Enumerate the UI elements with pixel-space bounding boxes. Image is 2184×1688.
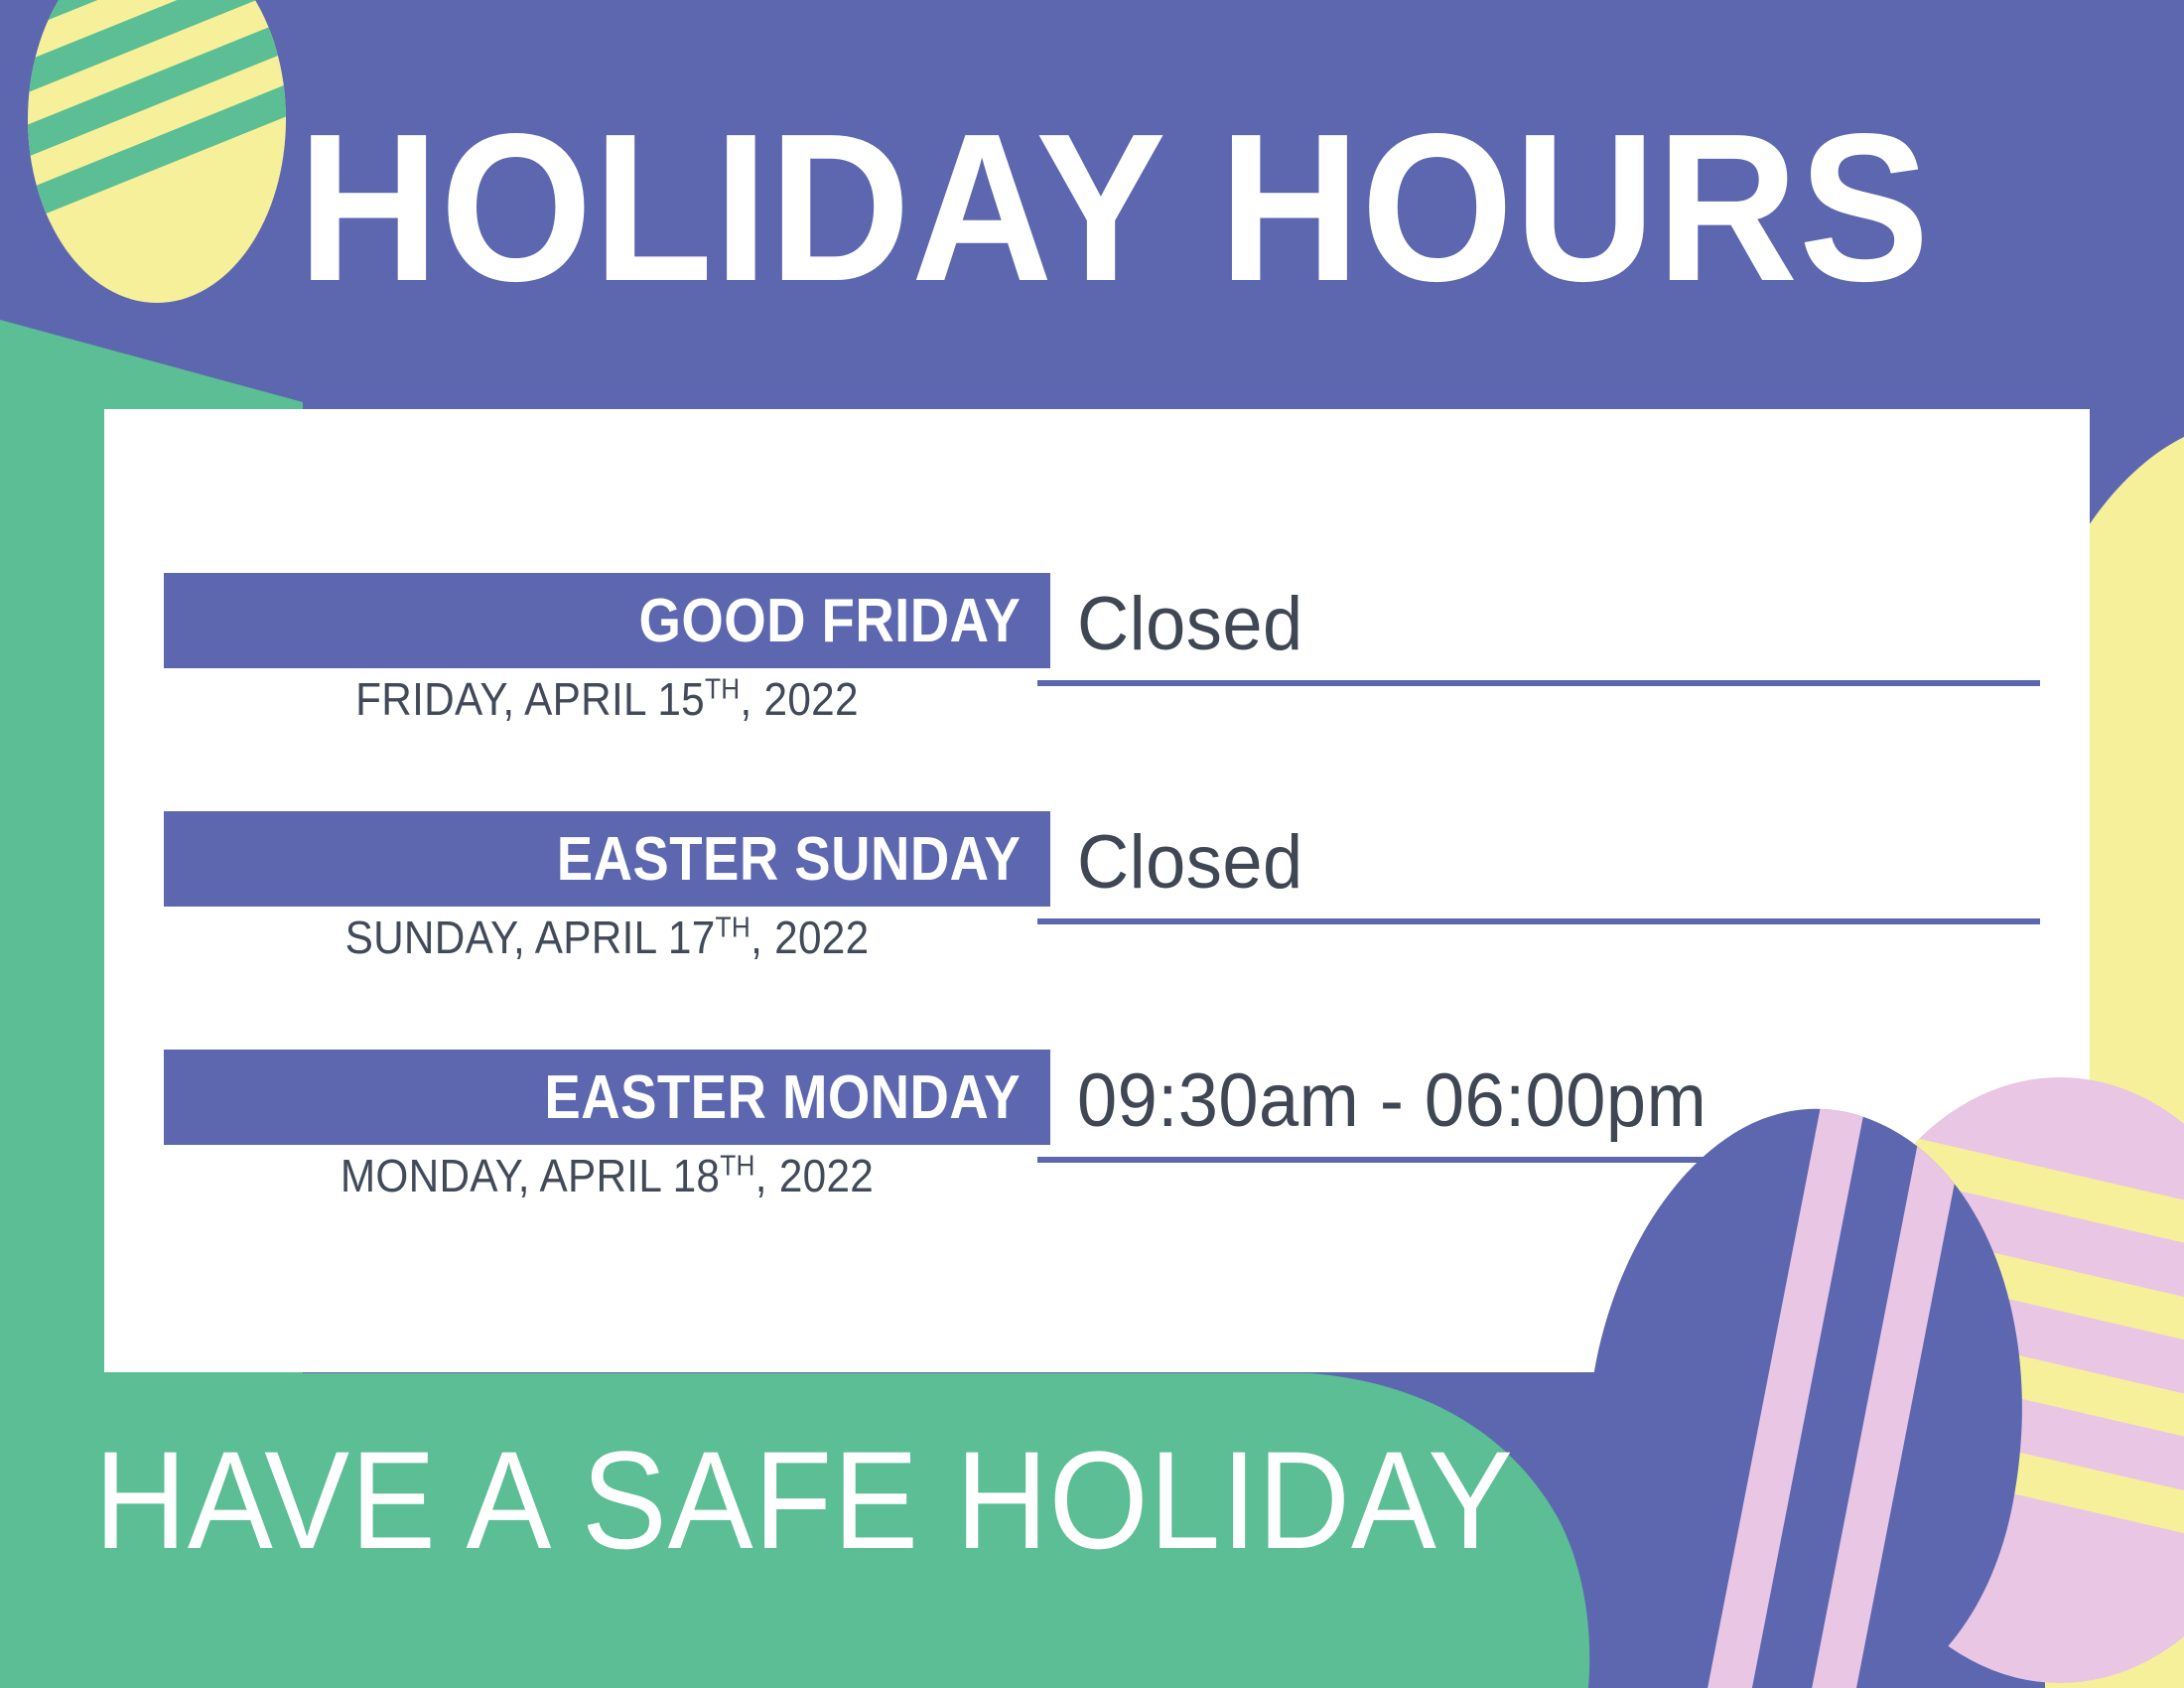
table-row: GOOD FRIDAY FRIDAY, APRIL 15TH, 2022 Clo…	[104, 573, 2090, 772]
date-prefix: MONDAY, APRIL 18	[341, 1150, 720, 1201]
holiday-hours-poster: GOOD FRIDAY FRIDAY, APRIL 15TH, 2022 Clo…	[0, 0, 2184, 1688]
holiday-name: EASTER MONDAY	[544, 1062, 1021, 1133]
holiday-name: GOOD FRIDAY	[638, 586, 1021, 656]
date-ordinal: TH	[716, 913, 751, 944]
hours-cell: Closed	[1037, 805, 2040, 924]
holiday-name-chip: EASTER MONDAY	[164, 1050, 1050, 1145]
hours-value: Closed	[1077, 581, 1303, 667]
hours-cell: Closed	[1037, 567, 2040, 686]
date-suffix: , 2022	[751, 912, 869, 963]
date-suffix: , 2022	[740, 673, 858, 725]
holiday-name-chip: EASTER SUNDAY	[164, 811, 1050, 907]
holiday-name: EASTER SUNDAY	[556, 824, 1021, 895]
holiday-date: SUNDAY, APRIL 17TH, 2022	[200, 911, 1016, 964]
table-row: EASTER SUNDAY SUNDAY, APRIL 17TH, 2022 C…	[104, 811, 2090, 1010]
hours-cell: 09:30am - 06:00pm	[1037, 1044, 2040, 1163]
date-ordinal: TH	[705, 674, 741, 706]
hours-value: Closed	[1077, 819, 1303, 906]
hours-card: GOOD FRIDAY FRIDAY, APRIL 15TH, 2022 Clo…	[104, 409, 2090, 1372]
date-suffix: , 2022	[755, 1150, 874, 1201]
date-ordinal: TH	[720, 1151, 755, 1183]
hours-value: 09:30am - 06:00pm	[1077, 1057, 1706, 1144]
date-prefix: SUNDAY, APRIL 17	[345, 912, 716, 963]
table-row: EASTER MONDAY MONDAY, APRIL 18TH, 2022 0…	[104, 1050, 2090, 1248]
footer-message: HAVE A SAFE HOLIDAY	[94, 1420, 1514, 1581]
holiday-date: FRIDAY, APRIL 15TH, 2022	[200, 672, 1016, 726]
page-title: HOLIDAY HOURS	[298, 107, 1930, 307]
holiday-name-chip: GOOD FRIDAY	[164, 573, 1050, 668]
date-prefix: FRIDAY, APRIL 15	[355, 673, 705, 725]
holiday-date: MONDAY, APRIL 18TH, 2022	[200, 1149, 1016, 1202]
